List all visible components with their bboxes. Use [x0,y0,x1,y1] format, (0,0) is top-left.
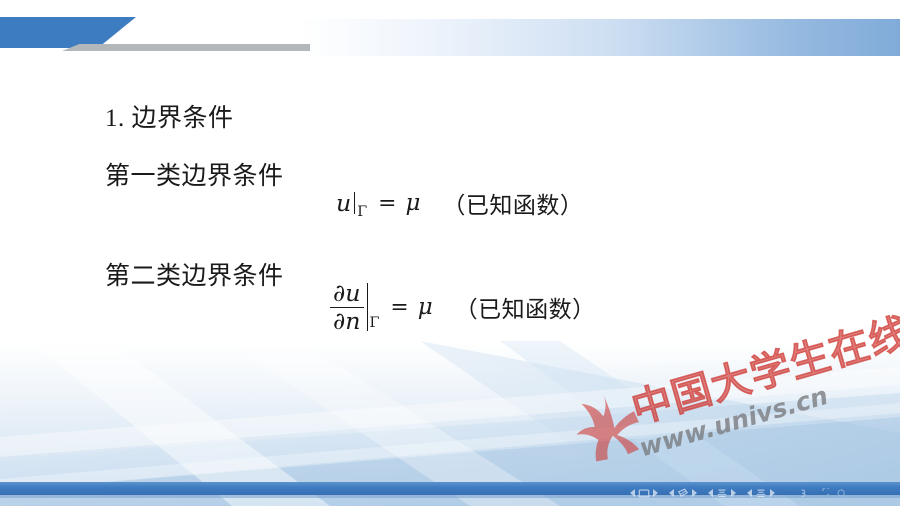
header-gray-bar [62,44,310,51]
prev-triangle-icon[interactable] [669,489,674,497]
presentation-slide: 1. 边界条件 第一类边界条件 第二类边界条件 u Γ = μ （已知函数） ∂… [0,0,900,506]
formula2-mu: μ [418,294,433,320]
undo-arrow-icon[interactable] [817,488,829,499]
slide-rectangle-icon[interactable] [638,488,650,499]
page-title: 1. 边界条件 [105,98,234,134]
next-triangle-icon[interactable] [770,489,775,497]
subheading-first-boundary-condition: 第一类边界条件 [105,156,284,192]
header-blue-parallelogram-large [0,17,136,48]
subheading-second-boundary-condition: 第二类边界条件 [105,256,284,292]
formula1-equals-sign: = [378,191,396,216]
formula2-partial-derivative-fraction: ∂u ∂n [330,281,364,333]
zoom-icon[interactable] [836,488,848,499]
formula1-note: （已知函数） [442,186,583,220]
presentation-controls[interactable] [630,485,848,501]
next-triangle-icon[interactable] [731,489,736,497]
pen-icon[interactable] [798,488,810,499]
formula2-numerator-partial: ∂ [333,279,345,307]
prev-triangle-icon[interactable] [708,489,713,497]
formula1-mu: μ [405,190,420,216]
formula2-denominator-partial: ∂ [333,307,345,335]
formula2-equals-sign: = [390,295,408,320]
prev-triangle-icon[interactable] [747,489,752,497]
formula2-numerator-u: u [345,279,360,307]
control-group-shape[interactable] [669,488,697,499]
formula2-restriction-bar-icon [367,283,368,331]
shape-overlap-icon[interactable] [677,488,689,499]
formula2-note: （已知函数） [455,290,596,324]
formula2-numerator: ∂u [330,281,364,307]
text-lines-icon[interactable] [716,488,728,499]
formula2-denominator: ∂n [330,308,364,334]
control-group-slide[interactable] [630,488,658,499]
formula1-subscript-gamma: Γ [357,204,367,220]
text-lines-icon[interactable] [755,488,767,499]
formula1-variable-u: u [336,189,351,217]
formula2-denominator-n: n [345,307,360,335]
formula1-restriction-bar-icon [354,192,355,214]
next-triangle-icon[interactable] [653,489,658,497]
control-group-text-a[interactable] [708,488,736,499]
formula2-subscript-gamma: Γ [370,315,380,333]
control-group-text-b[interactable] [747,488,775,499]
next-triangle-icon[interactable] [692,489,697,497]
formula-second-boundary-condition: ∂u ∂n Γ = μ （已知函数） [330,281,596,333]
header-gradient-band [300,19,900,56]
control-group-tools[interactable] [798,488,848,499]
formula-first-boundary-condition: u Γ = μ （已知函数） [336,186,583,220]
prev-triangle-icon[interactable] [630,489,635,497]
